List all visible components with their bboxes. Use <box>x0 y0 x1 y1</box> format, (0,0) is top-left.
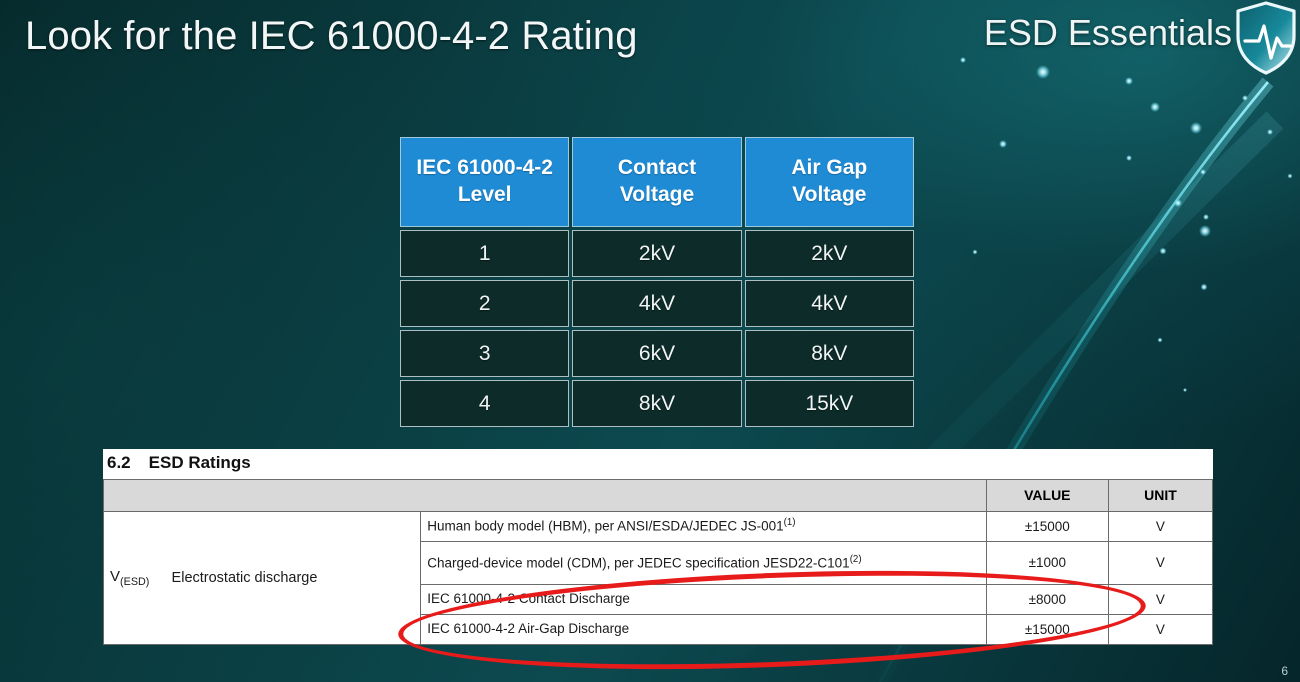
cell-value: ±15000 <box>986 511 1108 541</box>
section-number: 6.2 <box>107 453 131 472</box>
header-line-2: Voltage <box>792 183 866 206</box>
cell-level: 3 <box>400 330 569 377</box>
esd-ratings-table: VALUE UNIT V(ESD) Electrostatic discharg… <box>103 479 1213 645</box>
page-title: Look for the IEC 61000-4-2 Rating <box>25 14 638 59</box>
header-cell-air-gap-voltage: Air Gap Voltage <box>745 137 914 227</box>
symbol-base: V <box>110 568 120 585</box>
cell-airgap: 15kV <box>745 380 914 427</box>
cell-condition: IEC 61000-4-2 Air-Gap Discharge <box>421 614 987 644</box>
cell-unit: V <box>1108 511 1212 541</box>
cell-contact: 2kV <box>572 230 741 277</box>
header-line-2: Level <box>458 183 512 206</box>
page-number: 6 <box>1281 664 1288 678</box>
section-title: ESD Ratings <box>149 453 251 472</box>
cell-value: ±8000 <box>986 584 1108 614</box>
header-cell-unit: UNIT <box>1108 479 1212 511</box>
footnote-marker: (2) <box>850 554 862 565</box>
cell-condition: Human body model (HBM), per ANSI/ESDA/JE… <box>421 511 987 541</box>
cell-symbol: V(ESD) <box>104 511 166 644</box>
cell-condition: IEC 61000-4-2 Contact Discharge <box>421 584 987 614</box>
cell-unit: V <box>1108 541 1212 584</box>
cell-unit: V <box>1108 614 1212 644</box>
cell-level: 1 <box>400 230 569 277</box>
table-row: 3 6kV 8kV <box>400 330 914 377</box>
header-line-1: Contact <box>618 156 696 179</box>
header-cell-contact-voltage: Contact Voltage <box>572 137 741 227</box>
header-cell-value: VALUE <box>986 479 1108 511</box>
header-line-1: IEC 61000-4-2 <box>416 156 553 179</box>
condition-text: Human body model (HBM), per ANSI/ESDA/JE… <box>427 519 783 534</box>
slide-canvas: Look for the IEC 61000-4-2 Rating ESD Es… <box>0 0 1300 682</box>
cell-value: ±1000 <box>986 541 1108 584</box>
cell-airgap: 4kV <box>745 280 914 327</box>
table-header-row: VALUE UNIT <box>104 479 1213 511</box>
datasheet-section-heading: 6.2ESD Ratings <box>103 449 1213 479</box>
cell-condition: Charged-device model (CDM), per JEDEC sp… <box>421 541 987 584</box>
cell-level: 2 <box>400 280 569 327</box>
header-cell-blank <box>104 479 987 511</box>
table-row: 2 4kV 4kV <box>400 280 914 327</box>
cell-value: ±15000 <box>986 614 1108 644</box>
shield-heartbeat-icon <box>1234 0 1298 76</box>
condition-text: Charged-device model (CDM), per JEDEC sp… <box>427 555 849 570</box>
table-row: V(ESD) Electrostatic discharge Human bod… <box>104 511 1213 541</box>
cell-unit: V <box>1108 584 1212 614</box>
header-cell-level: IEC 61000-4-2 Level <box>400 137 569 227</box>
symbol-subscript: (ESD) <box>120 576 149 588</box>
cell-contact: 8kV <box>572 380 741 427</box>
brand-label: ESD Essentials <box>984 12 1232 54</box>
cell-description: Electrostatic discharge <box>166 511 421 644</box>
table-header-row: IEC 61000-4-2 Level Contact Voltage Air … <box>400 137 914 227</box>
iec-level-table: IEC 61000-4-2 Level Contact Voltage Air … <box>397 134 917 430</box>
cell-airgap: 8kV <box>745 330 914 377</box>
table-row: 4 8kV 15kV <box>400 380 914 427</box>
header-line-1: Air Gap <box>791 156 867 179</box>
table-row: 1 2kV 2kV <box>400 230 914 277</box>
cell-contact: 4kV <box>572 280 741 327</box>
cell-contact: 6kV <box>572 330 741 377</box>
cell-level: 4 <box>400 380 569 427</box>
datasheet-excerpt: 6.2ESD Ratings VALUE UNIT V(ESD) Electro… <box>103 449 1213 645</box>
header-line-2: Voltage <box>620 183 694 206</box>
footnote-marker: (1) <box>784 517 796 528</box>
cell-airgap: 2kV <box>745 230 914 277</box>
